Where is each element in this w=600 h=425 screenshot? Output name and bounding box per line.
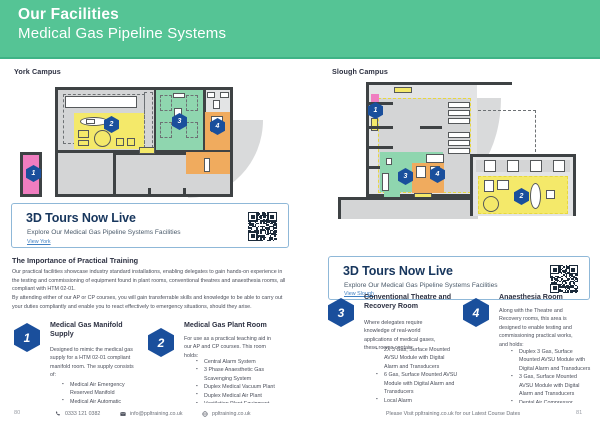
facility-intro-4: Along with the Theatre and Recovery room… (499, 307, 581, 349)
left-page: York Campus (0, 58, 300, 403)
list-item: Duplex Medical Air Plant (196, 392, 290, 400)
campus-label-york: York Campus (14, 67, 61, 76)
footer-email[interactable]: info@ppltraining.co.uk (130, 411, 183, 417)
facility-title-1: Medical Gas Manifold Supply (50, 321, 135, 340)
facility-number-1: 1 (14, 323, 40, 352)
footer-website[interactable]: ppltraining.co.uk (212, 411, 251, 417)
list-item: Central Alarm System (196, 358, 290, 366)
tour-title-slough: 3D Tours Now Live (343, 264, 453, 278)
facility-title-4: Anaesthesia Room (499, 293, 591, 302)
tour-box-york[interactable]: 3D Tours Now Live Explore Our Medical Ga… (11, 203, 289, 248)
facility-number-4: 4 (463, 298, 489, 327)
importance-paragraph-1: Our practical facilities showcase indust… (12, 268, 289, 294)
email-icon (120, 411, 126, 417)
facility-number-2: 2 (148, 328, 174, 357)
list-item: 6 Gas, Surface Mounted AVSU Module with … (376, 371, 458, 396)
page-number-right: 81 (576, 410, 582, 416)
right-page: Slough Campus (300, 58, 600, 403)
globe-icon (202, 411, 208, 417)
page-header: Our Facilities Medical Gas Pipeline Syst… (0, 0, 600, 57)
list-item: 3 Gas, Surface Mounted AVSU Module with … (511, 373, 591, 398)
facility-title-2: Medical Gas Plant Room (184, 321, 289, 330)
list-item: Medical Air Emergency Reserved Manifold (62, 381, 142, 398)
tour-subtitle-slough: Explore Our Medical Gas Pipeline Systems… (344, 282, 498, 289)
campus-label-slough: Slough Campus (332, 67, 388, 76)
list-item: 3 Phase Anaesthetic Gas Scavenging Syste… (196, 366, 290, 383)
qr-code-slough[interactable] (550, 265, 578, 293)
floorplan-slough: 1 2 3 4 (308, 80, 598, 255)
page-footer: 80 0333 121 0382 info@ppltraining.co.uk … (0, 403, 600, 425)
facility-number-3: 3 (328, 298, 354, 327)
tour-link-york[interactable]: View York (27, 239, 51, 245)
brochure-spread: Our Facilities Medical Gas Pipeline Syst… (0, 0, 600, 425)
facility-bullets-2: Central Alarm System 3 Phase Anaesthetic… (196, 358, 290, 409)
tour-title-york: 3D Tours Now Live (26, 211, 136, 225)
qr-code-york[interactable] (248, 212, 277, 241)
floorplan-york: 1 2 3 4 (8, 80, 293, 200)
importance-heading: The Importance of Practical Training (12, 256, 138, 265)
phone-icon (55, 411, 61, 417)
footer-note: Please Visit ppltraining.co.uk for our L… (386, 411, 520, 417)
list-item: 2X 3 Gas, Surface Mounted AVSU Module wi… (376, 346, 458, 371)
facility-intro-2: For use as a practical teaching aid in o… (184, 335, 279, 360)
facility-title-3: Conventional Theatre and Recovery Room (364, 293, 456, 312)
footer-phone[interactable]: 0333 121 0382 (65, 411, 100, 417)
facility-intro-1: Designed to mimic the medical gas supply… (50, 346, 138, 380)
list-item: Duplex 3 Gas, Surface Mounted AVSU Modul… (511, 348, 591, 373)
page-subtitle: Medical Gas Pipeline Systems (18, 25, 226, 42)
importance-paragraph-2: By attending either of our AP or CP cour… (12, 294, 289, 311)
page-number-left: 80 (14, 410, 20, 416)
list-item: Duplex Medical Vacuum Plant (196, 383, 290, 391)
page-title: Our Facilities (18, 6, 119, 24)
tour-subtitle-york: Explore Our Medical Gas Pipeline Systems… (27, 229, 181, 236)
